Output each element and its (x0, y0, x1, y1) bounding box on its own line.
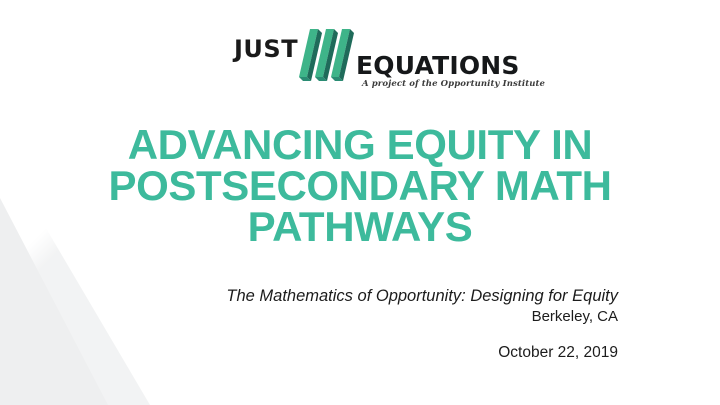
page-title: ADVANCING EQUITY IN POSTSECONDARY MATH P… (40, 124, 680, 247)
title-slide: JUST EQUATIONS A proj (0, 0, 720, 405)
event-location: Berkeley, CA (100, 307, 618, 327)
logo-word-just: JUST (234, 37, 298, 61)
event-name: The Mathematics of Opportunity: Designin… (100, 286, 618, 307)
title-line-1: ADVANCING EQUITY IN (40, 124, 680, 165)
brand-logo: JUST EQUATIONS A proj (0, 26, 720, 98)
three-slash-mark-icon (296, 27, 360, 81)
event-date: October 22, 2019 (100, 343, 618, 363)
logo-word-equations: EQUATIONS (356, 53, 520, 78)
title-line-3: PATHWAYS (40, 206, 680, 247)
title-line-2: POSTSECONDARY MATH (40, 165, 680, 206)
subtitle-block: The Mathematics of Opportunity: Designin… (100, 286, 618, 363)
logo-tagline: A project of the Opportunity Institute (362, 80, 545, 89)
